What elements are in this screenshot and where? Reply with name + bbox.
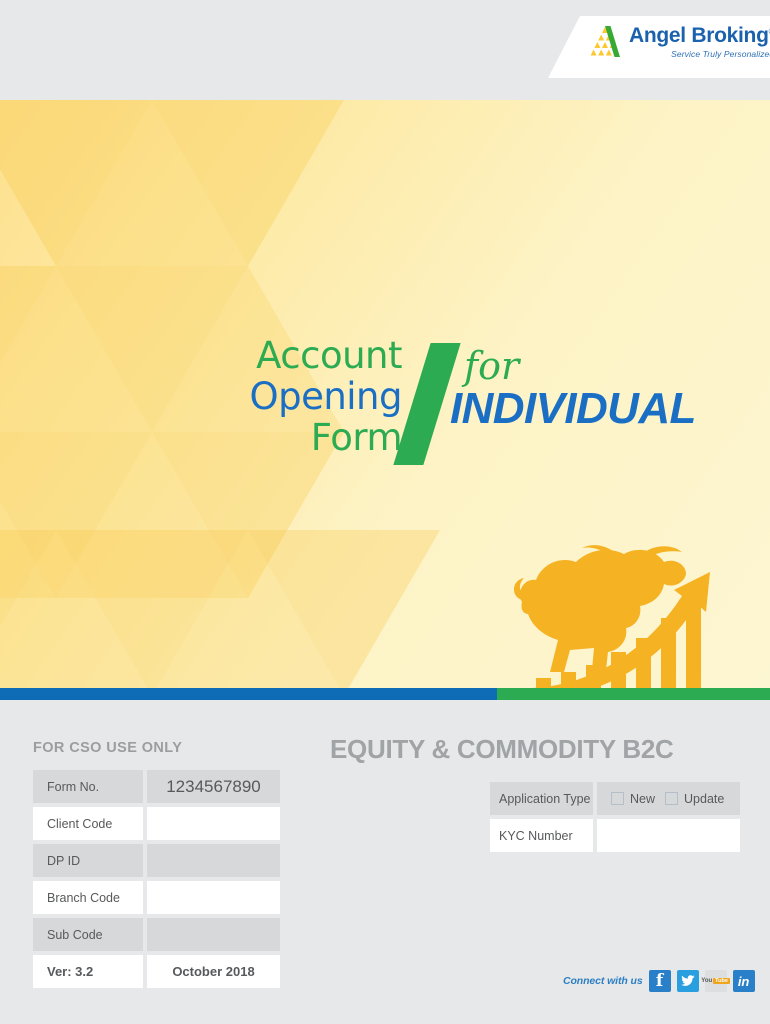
footer-stripe-green [497,688,770,700]
table-row: Form No. 1234567890 [33,770,280,803]
youtube-icon[interactable]: You Tube [705,970,727,992]
title-for-word: for [464,347,519,385]
client-code-input[interactable] [147,807,280,840]
kyc-number-input[interactable] [597,819,740,852]
segment-heading: EQUITY & COMMODITY B2C [330,734,673,765]
row-label: Form No. [33,770,143,803]
version-label: Ver: 3.2 [33,955,143,988]
application-type-new-option[interactable]: New [611,792,655,806]
row-label: DP ID [33,844,143,877]
cso-form-area: FOR CSO USE ONLY EQUITY & COMMODITY B2C … [0,712,770,1024]
option-label: Update [684,792,724,806]
table-row: KYC Number [490,819,740,852]
row-label: Branch Code [33,881,143,914]
table-row: Branch Code [33,881,280,914]
brand-name: Angel Broking® [629,25,770,47]
title-line-form: Form [232,417,402,458]
brand-logo-banner: Angel Broking® Service Truly Personalize… [548,16,770,78]
decorative-triangle [56,100,248,266]
bull-market-illustration [514,540,746,700]
decorative-triangle [0,530,152,696]
row-label: Sub Code [33,918,143,951]
branch-code-input[interactable] [147,881,280,914]
twitter-icon[interactable] [677,970,699,992]
table-row: Sub Code [33,918,280,951]
cso-use-only-heading: FOR CSO USE ONLY [33,740,182,756]
cover-title-block: Account Opening Form for INDIVIDUAL [232,335,702,485]
table-row: Client Code [33,807,280,840]
dp-id-input[interactable] [147,844,280,877]
sub-code-input[interactable] [147,918,280,951]
title-audience: INDIVIDUAL [450,387,696,431]
title-line-account: Account [232,335,402,376]
angel-broking-triangle-logo-icon [588,24,622,60]
connect-with-us-label: Connect with us [563,975,643,987]
page-header: Angel Broking® Service Truly Personalize… [0,0,770,100]
application-details-table: Application Type New Update KYC Number [490,782,740,856]
form-cover-page: Angel Broking® Service Truly Personalize… [0,0,770,1024]
kyc-number-label: KYC Number [490,819,593,852]
cso-details-table: Form No. 1234567890 Client Code DP ID Br… [33,770,280,992]
decorative-triangle [152,530,344,696]
brand-name-text: Angel Broking [629,24,769,47]
form-no-value[interactable]: 1234567890 [147,770,280,803]
decorative-triangle [0,266,152,432]
connect-with-us: Connect with us f You Tube in [563,970,755,992]
application-type-label: Application Type [490,782,593,815]
linkedin-icon[interactable]: in [733,970,755,992]
youtube-tube-text: Tube [713,978,730,984]
footer-stripe-blue [0,688,497,700]
option-label: New [630,792,655,806]
table-row: Application Type New Update [490,782,740,815]
table-row: Ver: 3.2 October 2018 [33,955,280,988]
youtube-you-text: You [701,978,712,984]
application-type-options: New Update [597,782,740,815]
cover-artwork-area: Account Opening Form for INDIVIDUAL [0,100,770,700]
facebook-icon[interactable]: f [649,970,671,992]
title-line-opening: Opening [232,376,402,417]
checkbox-icon[interactable] [611,792,624,805]
application-type-update-option[interactable]: Update [665,792,724,806]
row-label: Client Code [33,807,143,840]
table-row: DP ID [33,844,280,877]
checkbox-icon[interactable] [665,792,678,805]
brand-tagline: Service Truly Personalized [671,49,770,59]
version-date: October 2018 [147,955,280,988]
